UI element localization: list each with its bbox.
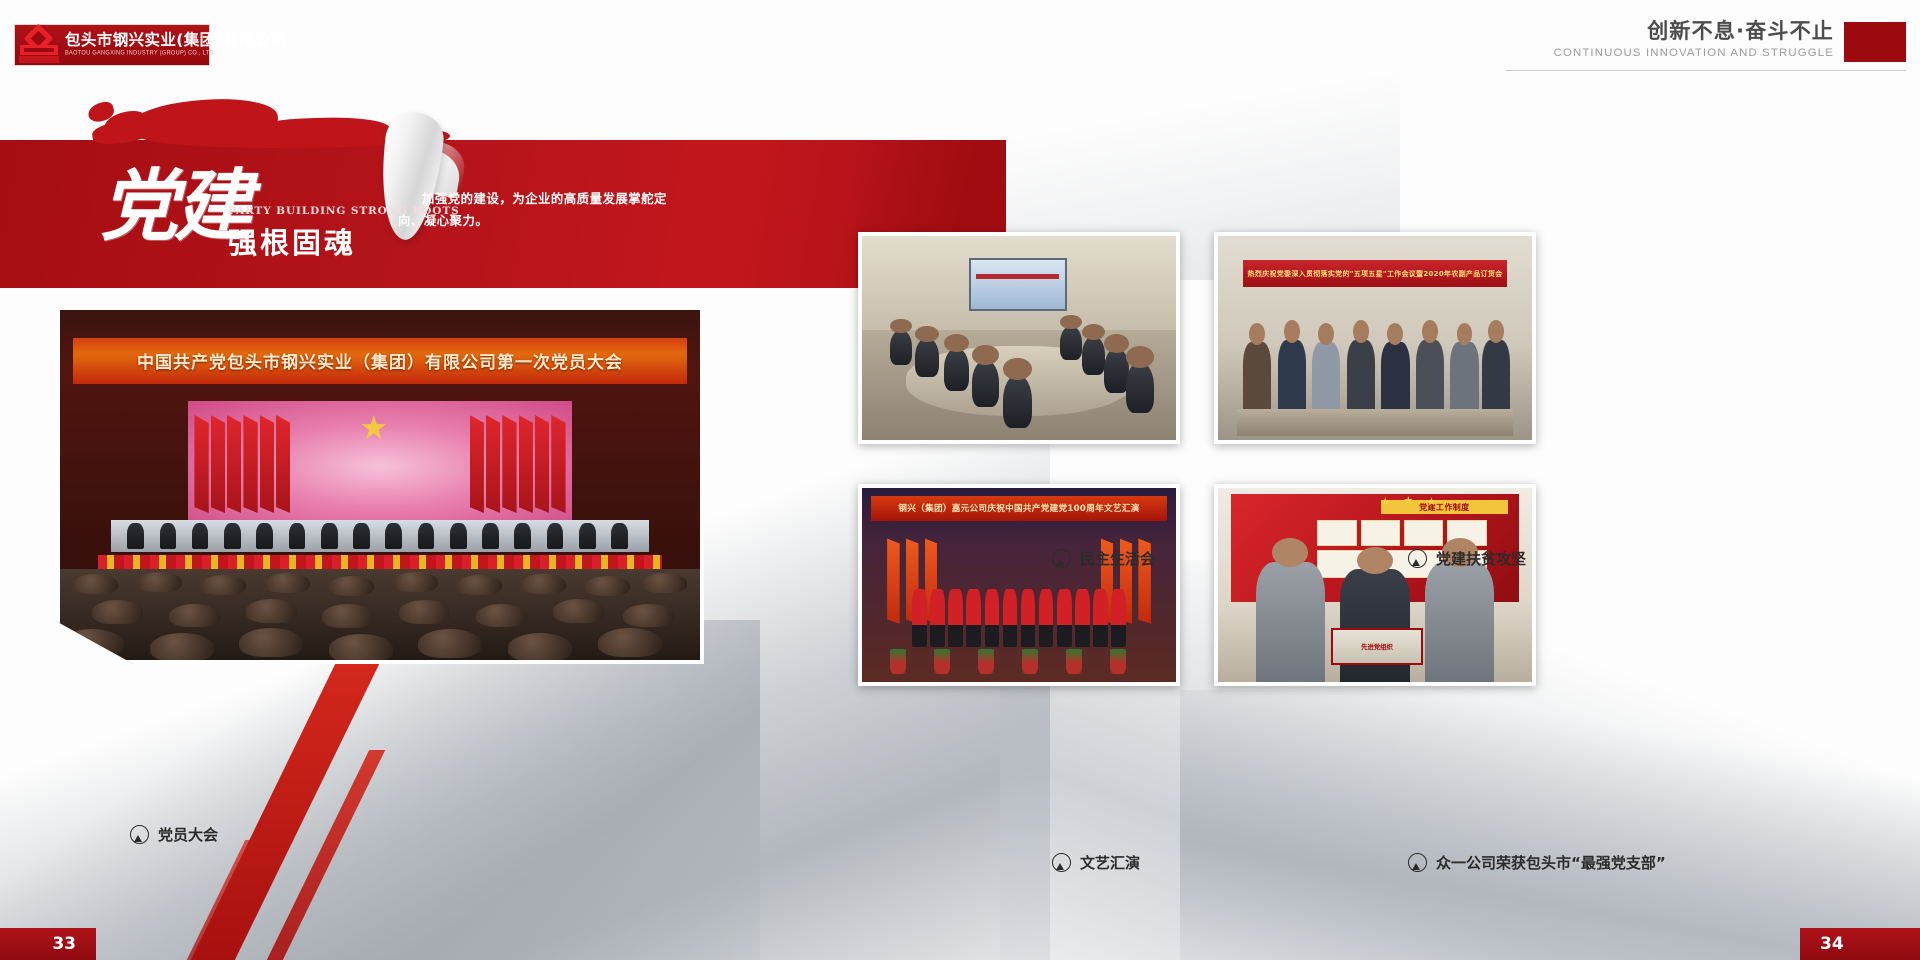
photo-strongest-branch: 党建工作制度 先进党组织 xyxy=(1214,484,1536,686)
header-red-square xyxy=(1844,22,1906,62)
caption-label: 文艺汇演 xyxy=(1080,852,1140,873)
photo-art-performance: 钢兴（集团）嘉元公司庆祝中国共产党建党100周年文艺汇演 xyxy=(858,484,1180,686)
caption-art-performance: 文艺汇演 xyxy=(1052,852,1140,873)
caption-label: 众一公司荣获包头市“最强党支部” xyxy=(1436,852,1666,873)
background-wash-left-lower xyxy=(0,620,760,960)
page-header: 包头市钢兴实业(集团)有限公司 BAOTOU GANGXING INDUSTRY… xyxy=(0,0,1920,88)
company-logo-mark-icon xyxy=(15,25,63,65)
photo-banner-label: 中国共产党包头市钢兴实业（集团）有限公司第一次党员大会 xyxy=(137,348,623,373)
page-number-right: 34 xyxy=(1800,928,1920,960)
caption-marker-icon xyxy=(1052,549,1071,568)
caption-label: 民主生活会 xyxy=(1080,548,1155,569)
caption-marker-icon xyxy=(1052,853,1071,872)
company-name-en: BAOTOU GANGXING INDUSTRY (GROUP) CO., LT… xyxy=(65,49,287,59)
company-logo: 包头市钢兴实业(集团)有限公司 BAOTOU GANGXING INDUSTRY… xyxy=(14,24,210,66)
caption-marker-icon xyxy=(1408,549,1427,568)
caption-party-congress: 党员大会 xyxy=(130,824,218,845)
photo-scene: 中国共产党包头市钢兴实业（集团）有限公司第一次党员大会 xyxy=(60,310,700,660)
photo-banner-text: 中国共产党包头市钢兴实业（集团）有限公司第一次党员大会 xyxy=(73,338,687,384)
caption-poverty-alleviation: 党建扶贫攻坚 xyxy=(1408,548,1526,569)
caption-label: 党建扶贫攻坚 xyxy=(1436,548,1526,569)
photo-scene xyxy=(862,236,1176,440)
flag-group-right xyxy=(470,415,566,513)
photo-banner-text: 钢兴（集团）嘉元公司庆祝中国共产党建党100周年文艺汇演 xyxy=(871,496,1166,521)
caption-marker-icon xyxy=(130,825,149,844)
stage-head-table xyxy=(111,520,649,552)
projector-screen xyxy=(969,258,1067,311)
audience-area xyxy=(60,569,700,660)
caption-marker-icon xyxy=(1408,853,1427,872)
caption-strongest-branch: 众一公司荣获包头市“最强党支部” xyxy=(1408,852,1666,873)
photo-scene: 热烈庆祝党委深入贯彻落实党的"五项五星"工作会议暨2020年农副产品订货会 xyxy=(1218,236,1532,440)
photo-poverty-alleviation: 热烈庆祝党委深入贯彻落实党的"五项五星"工作会议暨2020年农副产品订货会 xyxy=(1214,232,1536,444)
choir-group xyxy=(912,589,1126,647)
background-wash-right-lower xyxy=(1180,690,1920,960)
photo-scene: 钢兴（集团）嘉元公司庆祝中国共产党建党100周年文艺汇演 xyxy=(862,488,1176,682)
flag-group-left xyxy=(194,415,290,513)
photo-scene: 党建工作制度 先进党组织 xyxy=(1218,488,1532,682)
slogan-en: CONTINUOUS INNOVATION AND STRUGGLE xyxy=(1554,44,1834,62)
section-subtitle-cn: 强根固魂 xyxy=(228,220,356,262)
photo-banner-text: 热烈庆祝党委深入贯彻落实党的"五项五星"工作会议暨2020年农副产品订货会 xyxy=(1243,260,1507,287)
award-plaque: 先进党组织 xyxy=(1331,628,1423,665)
page-number-left: 33 xyxy=(0,928,96,960)
honor-board-label: 党建工作制度 xyxy=(1419,502,1469,513)
caption-label: 党员大会 xyxy=(158,824,218,845)
photo-banner-label: 热烈庆祝党委深入贯彻落实党的"五项五星"工作会议暨2020年农副产品订货会 xyxy=(1248,269,1503,279)
award-plaque-label: 先进党组织 xyxy=(1361,642,1393,651)
header-slogan: 创新不息·奋斗不止 CONTINUOUS INNOVATION AND STRU… xyxy=(1554,18,1834,62)
section-title-cn: 党建 xyxy=(100,168,248,246)
header-rule xyxy=(1506,70,1906,71)
caption-democratic-life-meeting: 民主生活会 xyxy=(1052,548,1155,569)
photo-party-congress: 中国共产党包头市钢兴实业（集团）有限公司第一次党员大会 xyxy=(56,306,704,664)
photo-democratic-life-meeting xyxy=(858,232,1180,444)
section-title: 党建 PARTY BUILDING STRONG ROOTS 强根固魂 xyxy=(100,168,430,288)
slogan-cn: 创新不息·奋斗不止 xyxy=(1554,18,1834,44)
photo-banner-label: 钢兴（集团）嘉元公司庆祝中国共产党建党100周年文艺汇演 xyxy=(898,502,1139,514)
company-name-cn: 包头市钢兴实业(集团)有限公司 xyxy=(65,32,287,49)
company-logo-text: 包头市钢兴实业(集团)有限公司 BAOTOU GANGXING INDUSTRY… xyxy=(63,32,287,58)
banner-paragraph: 加强党的建设，为企业的高质量发展掌舵定向、凝心聚力。 xyxy=(398,188,680,232)
honor-board-title: 党建工作制度 xyxy=(1381,500,1508,514)
brochure-page: 包头市钢兴实业(集团)有限公司 BAOTOU GANGXING INDUSTRY… xyxy=(0,0,1920,960)
front-table xyxy=(1237,409,1513,436)
